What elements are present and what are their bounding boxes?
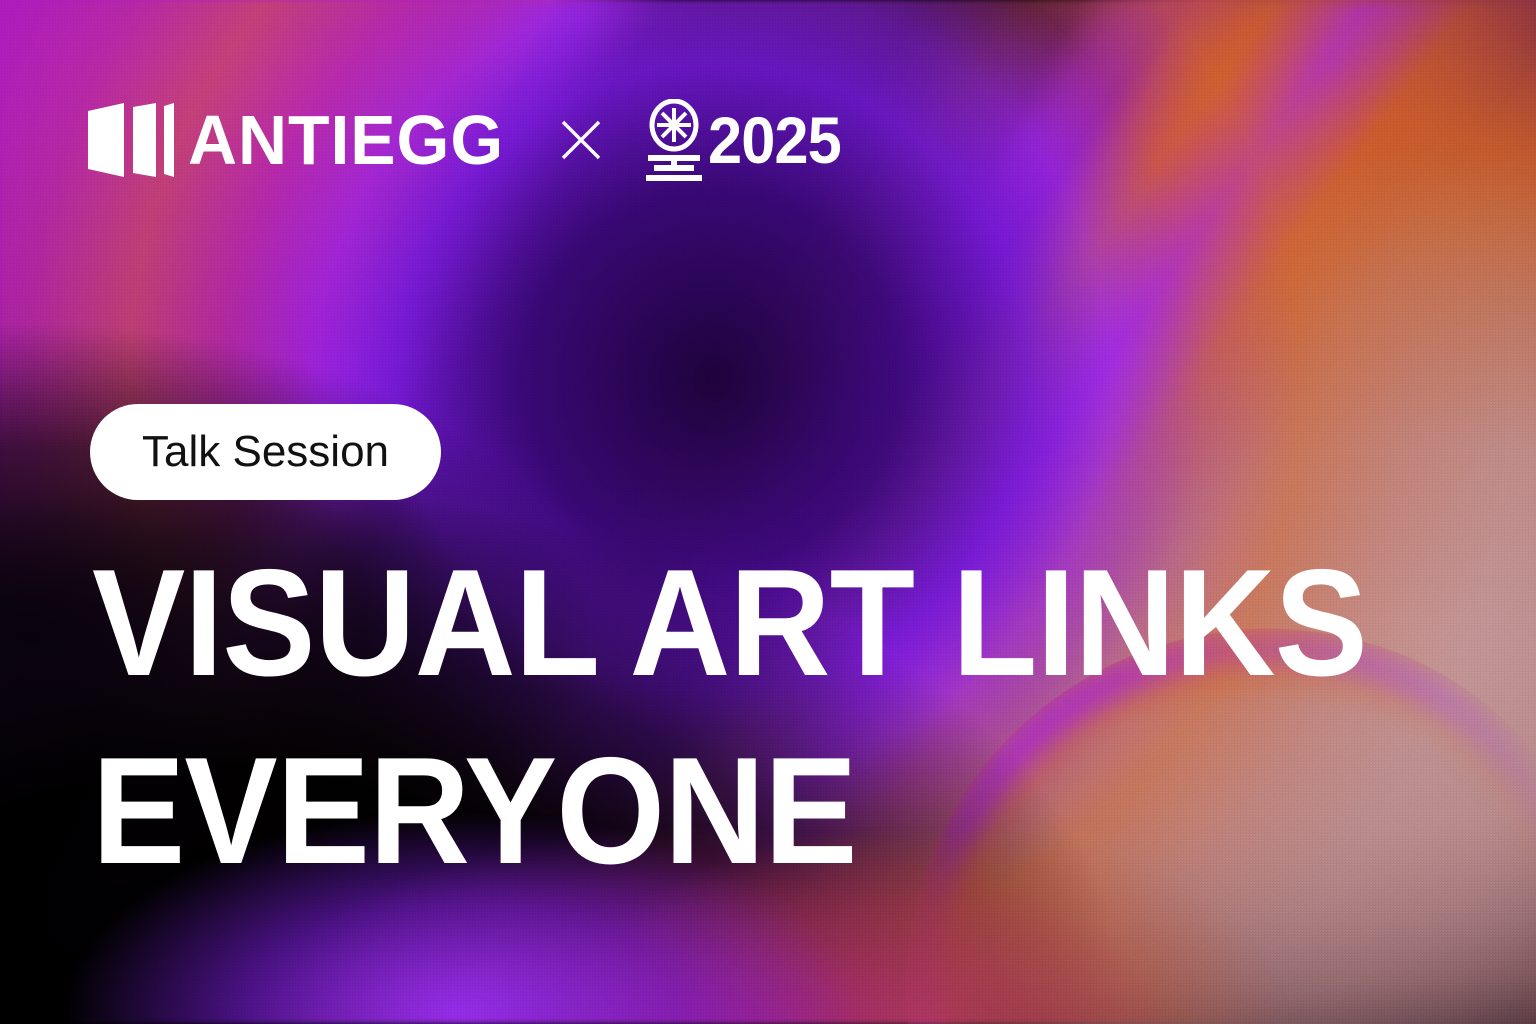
partner-year-label: 2025 — [708, 107, 841, 173]
session-type-label: Talk Session — [142, 430, 389, 474]
page-title: VISUAL ART LINKS EVERYONE — [92, 548, 1392, 887]
session-type-badge: Talk Session — [90, 404, 441, 500]
star-badge-pedestal-emblem-icon — [642, 99, 706, 181]
partner-emblem-lockup: 2025 — [642, 99, 851, 181]
antiegg-wordmark: ANTIEGG — [188, 105, 504, 175]
collaboration-x-icon — [560, 119, 602, 161]
banner-content: ANTIEGG — [0, 0, 1536, 1024]
headline-line-1: VISUAL ART LINKS — [92, 548, 1288, 698]
headline-line-2: EVERYONE — [92, 736, 1288, 886]
antiegg-pages-mark-icon — [88, 103, 174, 177]
brand-lockup: ANTIEGG — [88, 96, 851, 184]
event-promo-banner: ANTIEGG — [0, 0, 1536, 1024]
